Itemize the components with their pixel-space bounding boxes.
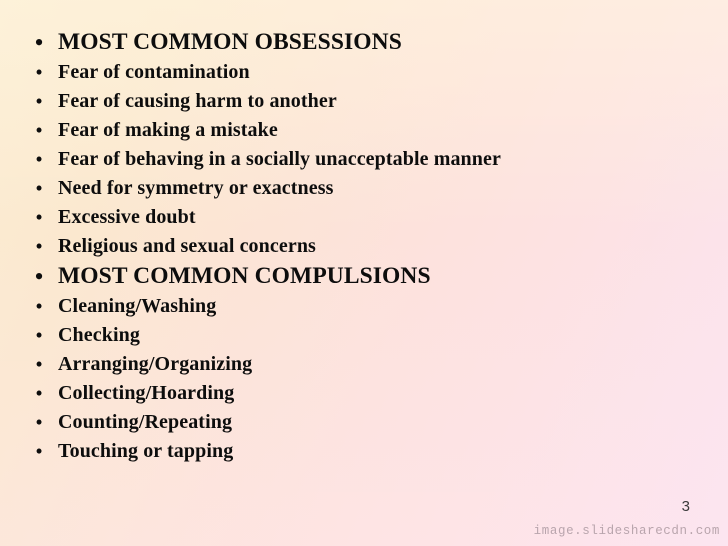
bullet-item-row: •Cleaning/Washing [0,292,728,321]
bullet-item-label: Fear of contamination [58,58,250,87]
section-heading-row: •MOST COMMON COMPULSIONS [0,261,728,292]
bullet-item-row: •Collecting/Hoarding [0,379,728,408]
bullet-item-label: Touching or tapping [58,437,233,466]
page-number: 3 [682,498,690,515]
bullet-item-label: Religious and sexual concerns [58,232,316,261]
bullet-item-row: •Counting/Repeating [0,408,728,437]
bullet-point-icon: • [30,232,48,261]
bullet-point-icon: • [30,58,48,87]
bullet-point-icon: • [30,203,48,232]
section-heading-label: MOST COMMON OBSESSIONS [58,27,402,58]
bullet-point-icon: • [30,408,48,437]
bullet-item-label: Cleaning/Washing [58,292,216,321]
bullet-point-icon: • [30,292,48,321]
bullet-item-row: •Fear of making a mistake [0,116,728,145]
bullet-item-row: •Arranging/Organizing [0,350,728,379]
bullet-point-icon: • [30,261,48,292]
bullet-item-label: Fear of making a mistake [58,116,278,145]
section-heading-row: •MOST COMMON OBSESSIONS [0,27,728,58]
bullet-item-row: •Fear of behaving in a socially unaccept… [0,145,728,174]
bullet-item-row: •Excessive doubt [0,203,728,232]
bullet-point-icon: • [30,379,48,408]
watermark-text: image.slidesharecdn.com [534,524,720,538]
bullet-point-icon: • [30,87,48,116]
section-heading-label: MOST COMMON COMPULSIONS [58,261,431,292]
bullet-item-label: Arranging/Organizing [58,350,252,379]
bullet-item-row: •Touching or tapping [0,437,728,466]
bullet-point-icon: • [30,27,48,58]
bullet-point-icon: • [30,350,48,379]
bullet-item-row: •Checking [0,321,728,350]
bullet-item-label: Counting/Repeating [58,408,232,437]
bullet-item-label: Collecting/Hoarding [58,379,234,408]
bullet-point-icon: • [30,174,48,203]
bullet-point-icon: • [30,145,48,174]
slide-canvas: •MOST COMMON OBSESSIONS•Fear of contamin… [0,0,728,546]
bullet-item-row: •Religious and sexual concerns [0,232,728,261]
bullet-item-row: •Fear of contamination [0,58,728,87]
bullet-item-label: Fear of behaving in a socially unaccepta… [58,145,501,174]
bullet-point-icon: • [30,116,48,145]
bullet-item-label: Checking [58,321,140,350]
bullet-item-row: •Need for symmetry or exactness [0,174,728,203]
bullet-item-row: •Fear of causing harm to another [0,87,728,116]
bullet-point-icon: • [30,437,48,466]
bullet-point-icon: • [30,321,48,350]
bullet-list: •MOST COMMON OBSESSIONS•Fear of contamin… [0,27,728,466]
bullet-item-label: Need for symmetry or exactness [58,174,334,203]
bullet-item-label: Fear of causing harm to another [58,87,337,116]
bullet-item-label: Excessive doubt [58,203,196,232]
